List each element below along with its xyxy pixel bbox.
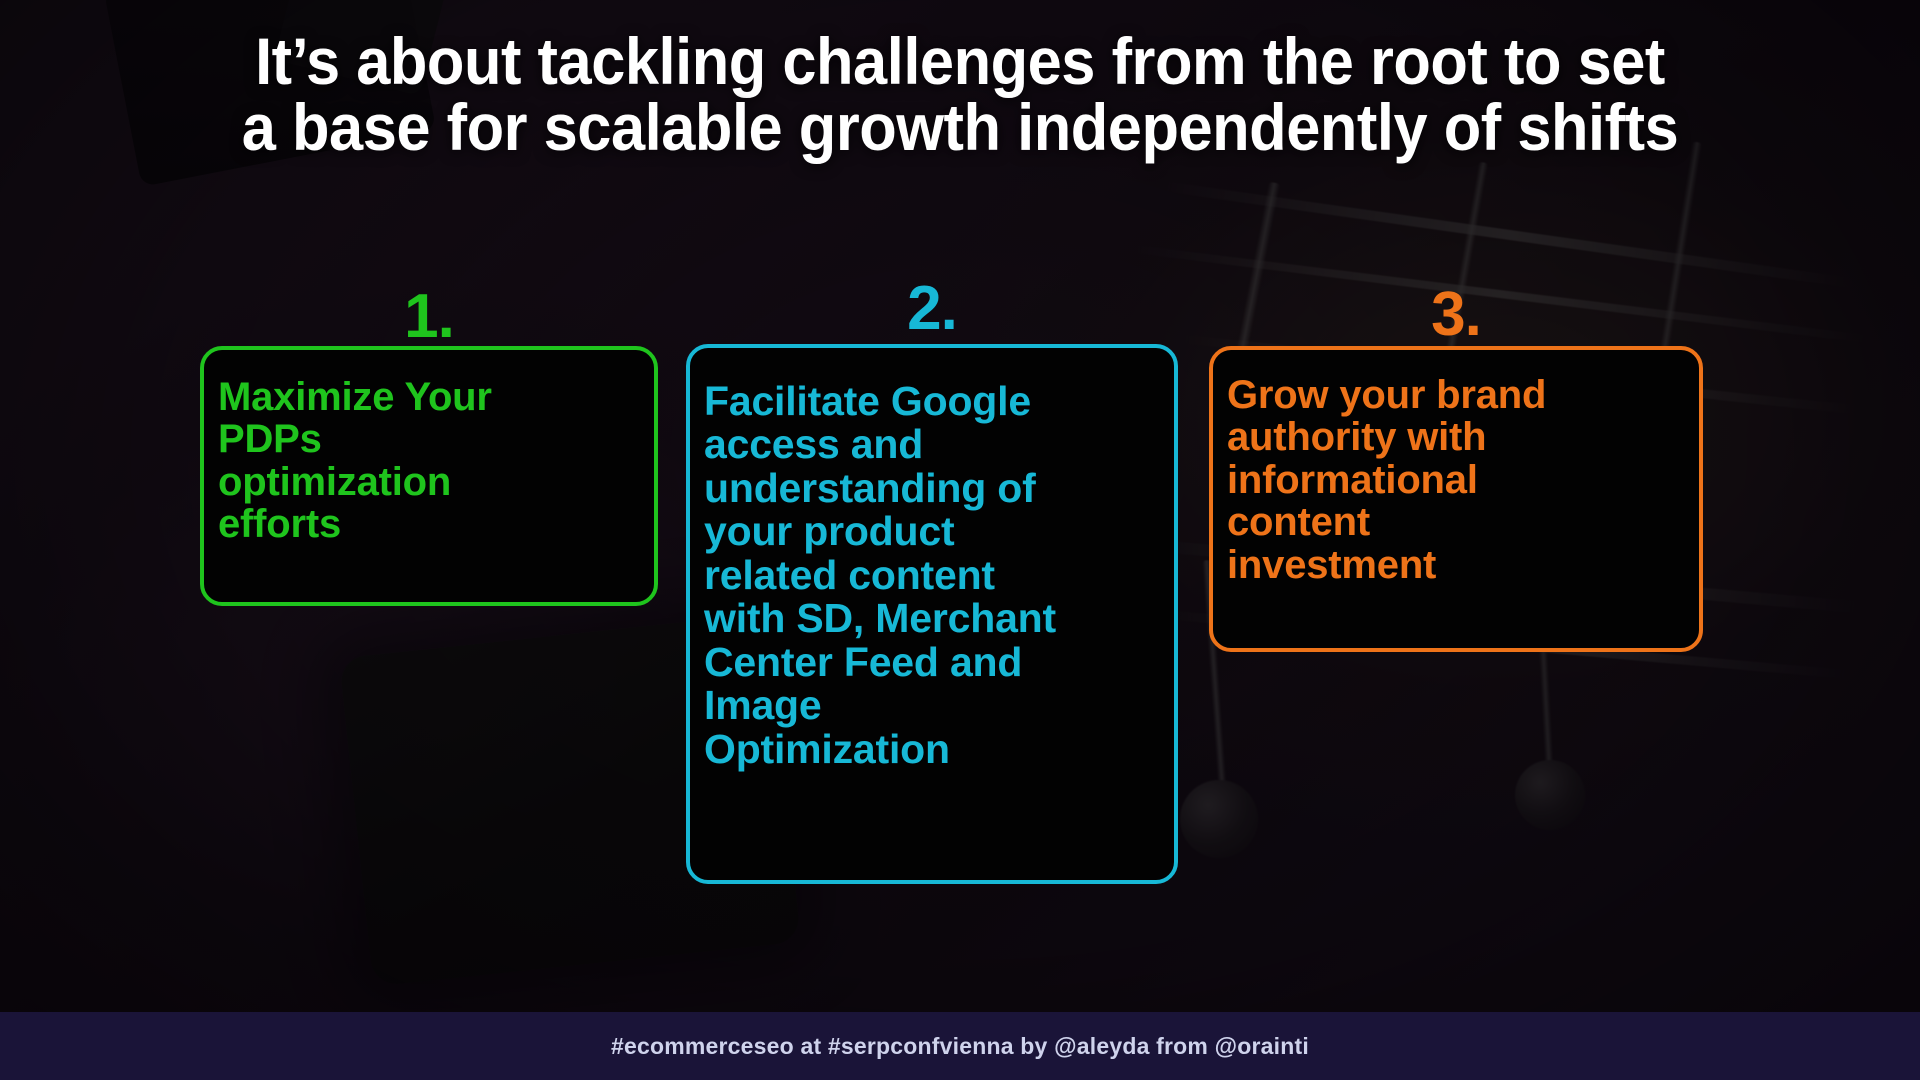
slide-title-line-2: a base for scalable growth independently… — [84, 94, 1836, 160]
step-card-3-text: Grow your brand authority with informati… — [1213, 350, 1699, 586]
step-number-1: 1. — [200, 286, 658, 348]
step-card-2-text: Facilitate Google access and understandi… — [690, 348, 1174, 771]
footer-bar: #ecommerceseo at #serpconfvienna by @ale… — [0, 1012, 1920, 1080]
slide-title-line-1: It’s about tackling challenges from the … — [255, 24, 1665, 98]
step-card-2-box: Facilitate Google access and understandi… — [686, 344, 1178, 884]
footer-credit: #ecommerceseo at #serpconfvienna by @ale… — [611, 1033, 1309, 1060]
step-card-3-box: Grow your brand authority with informati… — [1209, 346, 1703, 652]
step-card-1-box: Maximize Your PDPs optimization efforts — [200, 346, 658, 606]
step-number-3: 3. — [1209, 284, 1703, 346]
step-card-1-text: Maximize Your PDPs optimization efforts — [204, 350, 654, 546]
slide-title: It’s about tackling challenges from the … — [67, 28, 1853, 160]
presentation-slide: It’s about tackling challenges from the … — [0, 0, 1920, 1080]
step-number-2: 2. — [686, 278, 1178, 340]
